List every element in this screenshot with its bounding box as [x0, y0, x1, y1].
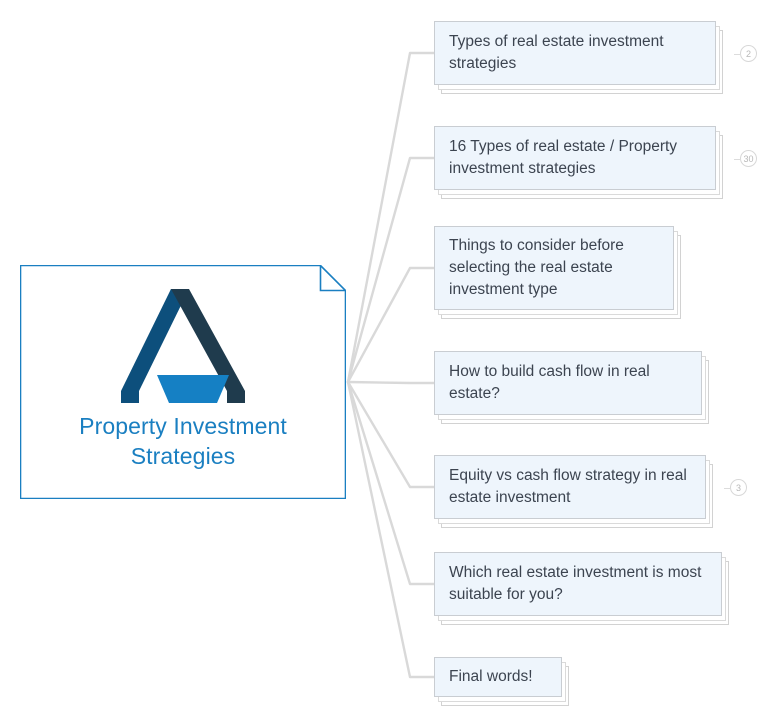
connector-line — [348, 158, 434, 382]
node-label: Which real estate investment is most sui… — [435, 562, 721, 606]
child-node[interactable]: Which real estate investment is most sui… — [434, 552, 722, 616]
node-label: Things to consider before selecting the … — [435, 235, 673, 301]
mindmap-canvas: Property Investment Strategies Types of … — [0, 0, 768, 723]
root-node[interactable]: Property Investment Strategies — [20, 265, 346, 499]
child-node[interactable]: 16 Types of real estate / Property inves… — [434, 126, 716, 190]
node-label: Final words! — [435, 666, 561, 688]
node-label: Equity vs cash flow strategy in real est… — [435, 465, 705, 509]
node-count-badge[interactable]: 3 — [730, 479, 747, 496]
connector-line — [348, 382, 434, 487]
node-card[interactable]: Equity vs cash flow strategy in real est… — [434, 455, 706, 519]
node-card[interactable]: How to build cash flow in real estate? — [434, 351, 702, 415]
node-label: How to build cash flow in real estate? — [435, 361, 701, 405]
connector-line — [348, 53, 434, 382]
child-node[interactable]: Things to consider before selecting the … — [434, 226, 674, 310]
node-count-badge[interactable]: 30 — [740, 150, 757, 167]
triangular-a-logo — [113, 287, 253, 405]
connector-line — [348, 382, 434, 677]
connector-line — [348, 382, 434, 584]
node-card[interactable]: Types of real estate investment strategi… — [434, 21, 716, 85]
child-node[interactable]: Types of real estate investment strategi… — [434, 21, 716, 85]
node-card[interactable]: 16 Types of real estate / Property inves… — [434, 126, 716, 190]
node-count-badge[interactable]: 2 — [740, 45, 757, 62]
node-card[interactable]: Which real estate investment is most sui… — [434, 552, 722, 616]
node-card[interactable]: Final words! — [434, 657, 562, 697]
node-label: Types of real estate investment strategi… — [435, 31, 715, 75]
child-node[interactable]: Final words! — [434, 657, 562, 697]
child-node[interactable]: How to build cash flow in real estate? — [434, 351, 702, 415]
child-node[interactable]: Equity vs cash flow strategy in real est… — [434, 455, 706, 519]
node-card[interactable]: Things to consider before selecting the … — [434, 226, 674, 310]
connector-line — [348, 268, 434, 382]
root-title-line1: Property Investment — [79, 413, 287, 439]
node-label: 16 Types of real estate / Property inves… — [435, 136, 715, 180]
root-title-line2: Strategies — [131, 443, 236, 469]
root-title: Property Investment Strategies — [34, 411, 332, 471]
connector-line — [348, 382, 434, 383]
